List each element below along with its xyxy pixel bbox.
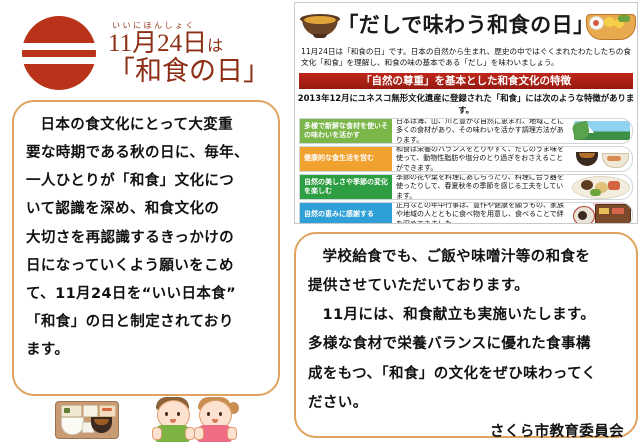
pickles-dish-icon <box>83 405 98 417</box>
feature-row-3: 自然の美しさや季節の変化を楽しむ 季節の花や葉を料理にあしらったり、料理に合う器… <box>299 174 633 200</box>
seasonal-dish-icon <box>572 176 630 199</box>
feature-text-4: 正月などの年中行事は、豊作や健康を願うもの、家族や地域の人とともに食べ物を用意し… <box>392 203 570 224</box>
bowl-foot <box>313 34 327 38</box>
right-text-line-5: 成をもつ、「和食」の文化をぜひ味わってく <box>308 365 624 384</box>
feature-text-2: 和食は栄養のバランスをとりやすく、だしのうま味を使って、動物性脂肪や塩分のとり過… <box>392 147 570 171</box>
left-text-line-7: て、11月24日を“いい日本食” <box>26 285 266 304</box>
osechi-new-year-icon <box>573 203 631 224</box>
chopstick-bar-upper <box>18 43 104 50</box>
girl-eye-left <box>207 412 210 416</box>
grilled-fish-dish-icon <box>99 405 116 417</box>
rice-bowl-thumb <box>602 153 629 168</box>
right-text-line-1: 学校給食でも、ご飯や味噌汁等の和食を <box>308 248 624 267</box>
poster-title: 「だしで味わう和食の日」 <box>337 9 594 39</box>
boy-eye-left <box>165 412 168 416</box>
ozoni-bowl <box>573 206 595 224</box>
left-text-line-4: いて認識を深め、和食文化の <box>26 200 266 219</box>
signature-text: さくら市教育委員会 <box>308 423 624 442</box>
side-dish-icon <box>61 405 82 417</box>
left-text-line-9: ます。 <box>26 341 266 360</box>
seasonal-garnish <box>590 189 601 196</box>
right-text-line-3: 11月には、和食献立も実施いたします。 <box>308 306 624 325</box>
page-root: いいにほんしょく 11月24日は 「和食の日」 日本の食文化にとって大変重 要な… <box>0 0 640 443</box>
dashi-bowl-icon <box>300 7 340 39</box>
jubako-box <box>595 204 631 224</box>
wasyoku-no-hi-logo-icon <box>22 16 96 90</box>
girl-arm-left <box>194 427 204 440</box>
feature-row-2: 健康的な食生活を営む 和食は栄養のバランスをとりやすく、だしのうま味を使って、動… <box>299 146 633 172</box>
left-text-line-2: 要な時期である秋の日に、毎年、 <box>26 144 266 163</box>
boy-arm-left <box>152 427 162 440</box>
poster-section-banner: 「自然の尊重」を基本とした和食文化の特徴 <box>299 73 633 89</box>
feature-image-2 <box>570 147 632 171</box>
right-text-line-6: ださい。 <box>308 394 624 413</box>
girl-arm-right <box>227 427 237 440</box>
poster-subline-text: 2013年12月にユネスコ無形文化遺産に登録された「和食」には次のような特徴があ… <box>295 89 637 118</box>
feature-text-3: 季節の花や葉を料理にあしらったり、料理に合う器を使ったりして、春夏秋冬の季節を感… <box>392 175 570 199</box>
left-text-line-8: 「和食」の日と制定されており <box>26 313 266 332</box>
right-text-line-2: 提供させていただいております。 <box>308 277 624 296</box>
japan-map-shape <box>571 120 590 140</box>
rice-bowl-icon <box>61 417 84 435</box>
bottom-illustrations <box>55 396 265 443</box>
feature-image-3 <box>570 175 632 199</box>
title-date-suffix: は <box>207 38 223 55</box>
dashi-poster: 「だしで味わう和食の日」 11月24日は「和食の日」です。日本の自然から生まれ、… <box>294 2 638 224</box>
feature-label-3: 自然の美しさや季節の変化を楽しむ <box>300 175 392 199</box>
left-text-line-3: 一人ひとりが「和食」文化につ <box>26 172 266 191</box>
feature-row-1: 多様で新鮮な食材を使いその味わいを活かす 日本は海、山、川と豊かな自然に恵まれ、… <box>299 118 633 144</box>
page-title: いいにほんしょく 11月24日は 「和食の日」 <box>108 22 270 85</box>
boy-eye-right <box>177 412 180 416</box>
girl-eating-icon <box>193 396 237 442</box>
right-text-line-4: 多様な食材で栄養バランスに優れた食事構 <box>308 335 624 354</box>
left-column: いいにほんしょく 11月24日は 「和食の日」 日本の食文化にとって大変重 要な… <box>0 0 292 443</box>
feature-table: 多様で新鮮な食材を使いその味わいを活かす 日本は海、山、川と豊かな自然に恵まれ、… <box>295 118 637 224</box>
feature-image-4 <box>570 203 632 224</box>
left-message-box: 日本の食文化にとって大変重 要な時期である秋の日に、毎年、 一人ひとりが「和食」… <box>12 100 280 396</box>
poster-lead-text: 11月24日は「和食の日」です。日本の自然から生まれ、歴史の中ではぐくまれたわた… <box>295 45 637 71</box>
right-column: 「だしで味わう和食の日」 11月24日は「和食の日」です。日本の自然から生まれ、… <box>292 0 640 443</box>
feature-row-4: 自然の恵みに感謝する 正月などの年中行事は、豊作や健康を願うもの、家族や地域の人… <box>299 202 633 224</box>
nature-landscape-icon <box>574 121 630 140</box>
bowl-soup <box>304 16 336 24</box>
feature-label-4: 自然の恵みに感謝する <box>300 203 392 224</box>
rice-and-miso-soup-icon <box>574 149 630 168</box>
japanese-meal-tray-icon <box>55 401 119 439</box>
title-line-wasyoku: 「和食の日」 <box>108 58 270 85</box>
header: いいにほんしょく 11月24日は 「和食の日」 <box>14 10 286 96</box>
left-text-line-5: 大切さを再認識するきっかけの <box>26 229 266 248</box>
left-text-line-6: 日になっていくよう願いをこめ <box>26 257 266 276</box>
left-text-line-1: 日本の食文化にとって大変重 <box>26 116 266 135</box>
boy-eating-icon <box>151 396 195 442</box>
feature-label-2: 健康的な食生活を営む <box>300 147 392 171</box>
title-furigana: いいにほんしょく <box>108 22 270 30</box>
feature-image-1 <box>570 119 632 143</box>
miso-soup-bowl-icon <box>91 417 112 433</box>
title-line-date: 11月24日は <box>108 31 270 56</box>
title-date-text: 11月24日 <box>108 30 207 57</box>
girl-eye-right <box>219 412 222 416</box>
poster-header: 「だしで味わう和食の日」 <box>295 3 637 45</box>
feature-text-1: 日本は海、山、川と豊かな自然に恵まれ、地域ごとに多くの食材があり、その味わいを活… <box>392 119 570 143</box>
feature-label-1: 多様で新鮮な食材を使いその味わいを活かす <box>300 119 392 143</box>
miso-soup-bowl-thumb <box>576 152 598 166</box>
bento-greens <box>618 15 630 22</box>
seasonal-food-3 <box>608 181 620 190</box>
right-message-box: 学校給食でも、ご飯や味噌汁等の和食を 提供させていただいております。 11月には… <box>294 232 638 438</box>
chopstick-bar-lower <box>18 57 104 64</box>
